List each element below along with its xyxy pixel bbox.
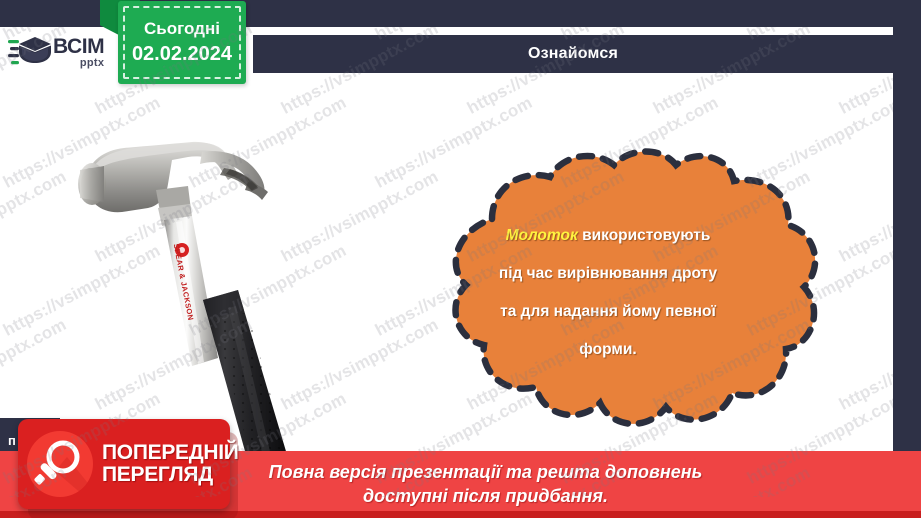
- claw-hammer-image: SPEAR & JACKSON: [52, 122, 302, 462]
- bottom-banner-text: Повна версія презентації та решта доповн…: [269, 461, 703, 508]
- preview-badge-label: ПОПЕРЕДНІЙ ПЕРЕГЛЯД: [102, 442, 239, 486]
- cloud-text: Молоток використовують під час вирівнюва…: [434, 217, 782, 369]
- brand-subtitle: pptx: [53, 58, 104, 69]
- preview-badge-line-1: ПОПЕРЕДНІЙ: [102, 442, 239, 464]
- graduation-cap-icon: [8, 32, 52, 72]
- preview-badge-line-2: ПЕРЕГЛЯД: [102, 464, 239, 486]
- bottom-banner-line-1: Повна версія презентації та решта доповн…: [269, 461, 703, 484]
- date-label: Сьогодні: [144, 20, 220, 39]
- cloud-line-3: та для надання йому певної: [434, 293, 782, 331]
- page-title: Ознайомся: [528, 45, 618, 63]
- date-badge: Сьогодні 02.02.2024: [118, 1, 246, 84]
- brand-logo: ВСІМ pptx: [8, 26, 120, 78]
- slide-root: SPEAR & JACKSON Молоток використовують п…: [0, 0, 921, 518]
- cloud-line-1: Молоток використовують: [434, 217, 782, 255]
- watermark-text: https://vsimpptx.com: [836, 167, 893, 267]
- brand-logo-text: ВСІМ pptx: [53, 36, 104, 69]
- preview-badge[interactable]: ПОПЕРЕДНІЙ ПЕРЕГЛЯД: [18, 419, 230, 509]
- footer-partial-text: п: [8, 433, 16, 448]
- brand-name: ВСІМ: [53, 36, 104, 57]
- cloud-keyword: Молоток: [506, 227, 578, 244]
- watermark-text: https://vsimpptx.com: [836, 315, 893, 415]
- magnifier-icon: [27, 431, 93, 497]
- bottom-banner-line-2: доступні після придбання.: [269, 485, 703, 508]
- cloud-line-4: форми.: [434, 331, 782, 369]
- cloud-callout: Молоток використовують під час вирівнюва…: [372, 139, 842, 479]
- date-value: 02.02.2024: [132, 43, 232, 65]
- cloud-line-1-rest: використовують: [578, 227, 711, 244]
- cloud-line-2: під час вирівнювання дроту: [434, 255, 782, 293]
- header-bar: Ознайомся: [253, 35, 893, 73]
